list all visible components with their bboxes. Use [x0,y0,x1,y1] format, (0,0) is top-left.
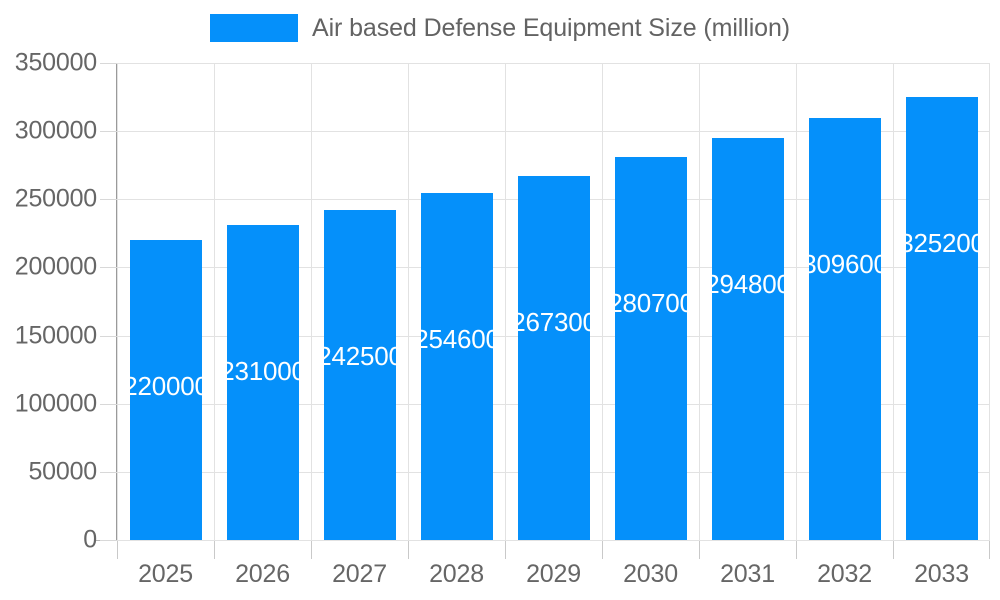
bar-2030[interactable]: 280700 [615,157,687,540]
bar-2032[interactable]: 309600 [809,118,881,540]
y-axis-tick [100,199,117,200]
y-axis-label: 0 [83,526,97,555]
gridline-vertical [505,63,506,540]
plot-area: 2200002310002425002546002673002807002948… [117,63,990,540]
x-axis-label-2028: 2028 [408,560,505,589]
legend-color-swatch [210,14,298,42]
bar-value-label: 242500 [324,343,396,369]
x-axis-tick [311,541,312,559]
x-axis-tick [699,541,700,559]
bar-value-label: 309600 [809,251,881,277]
bar-2031[interactable]: 294800 [712,138,784,540]
y-axis-tick [100,472,117,473]
x-axis-label-2027: 2027 [311,560,408,589]
gridline-vertical [796,63,797,540]
bar-value-label: 220000 [130,373,202,399]
gridline-vertical [699,63,700,540]
bar-2027[interactable]: 242500 [324,210,396,540]
y-axis-tick [100,63,117,64]
y-axis-tick [100,540,117,541]
y-axis-label: 50000 [28,457,97,486]
x-axis-label-2033: 2033 [893,560,990,589]
y-axis-label: 300000 [15,117,97,146]
x-axis-label-2031: 2031 [699,560,796,589]
gridline-vertical [989,63,990,540]
x-axis-tick [602,541,603,559]
y-axis-tick [100,336,117,337]
x-axis-tick [117,541,118,559]
x-axis-label-2030: 2030 [602,560,699,589]
x-axis-tick [989,541,990,559]
gridline-vertical [408,63,409,540]
bar-2029[interactable]: 267300 [518,176,590,540]
y-axis-tick [100,131,117,132]
x-axis-label-2032: 2032 [796,560,893,589]
bar-2025[interactable]: 220000 [130,240,202,540]
gridline-horizontal [117,540,990,541]
legend-label: Air based Defense Equipment Size (millio… [312,14,790,43]
y-axis-label: 150000 [15,321,97,350]
y-axis-label: 200000 [15,253,97,282]
x-axis-tick [505,541,506,559]
y-axis-label: 100000 [15,389,97,418]
gridline-vertical [311,63,312,540]
y-axis-label: 350000 [15,49,97,78]
x-axis-label-2026: 2026 [214,560,311,589]
x-axis-tick [893,541,894,559]
bar-2028[interactable]: 254600 [421,193,493,540]
bar-value-label: 231000 [227,358,299,384]
bar-value-label: 280700 [615,290,687,316]
bar-value-label: 294800 [712,271,784,297]
bar-2033[interactable]: 325200 [906,97,978,540]
x-axis-tick [214,541,215,559]
bar-value-label: 267300 [518,309,590,335]
y-axis-tick [100,267,117,268]
gridline-vertical [602,63,603,540]
y-axis-label: 250000 [15,185,97,214]
bar-2026[interactable]: 231000 [227,225,299,540]
gridline-vertical [117,63,118,540]
x-axis-tick [408,541,409,559]
bar-value-label: 254600 [421,326,493,352]
gridline-horizontal [117,63,990,64]
x-axis-label-2029: 2029 [505,560,602,589]
bar-chart: Air based Defense Equipment Size (millio… [0,0,1000,600]
x-axis-tick [796,541,797,559]
y-axis-tick [100,404,117,405]
x-axis-label-2025: 2025 [117,560,214,589]
gridline-vertical [214,63,215,540]
bar-value-label: 325200 [906,230,978,256]
chart-legend: Air based Defense Equipment Size (millio… [0,10,1000,46]
gridline-vertical [893,63,894,540]
